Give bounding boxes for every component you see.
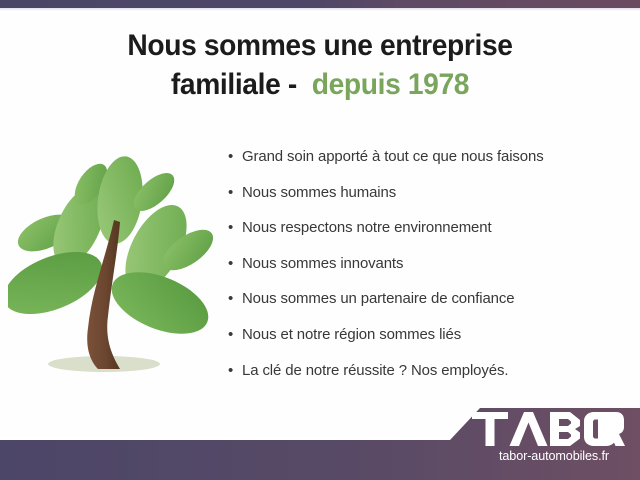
page-title-line-2-main: familiale - — [171, 68, 297, 101]
top-accent-bar — [0, 0, 640, 8]
top-accent-bar-shadow — [0, 8, 640, 11]
tree-illustration — [8, 148, 223, 390]
list-item-label: Nous et notre région sommes liés — [242, 327, 461, 342]
page-title-line-1: Nous sommes une entreprise — [19, 26, 621, 65]
list-item: • Nous et notre région sommes liés — [228, 327, 634, 363]
list-item-label: Nous sommes humains — [242, 185, 396, 200]
list-item: • Nous respectons notre environnement — [228, 220, 634, 256]
list-item: • Grand soin apporté à tout ce que nous … — [228, 149, 634, 185]
footer-band — [0, 405, 640, 480]
bullet-marker-icon: • — [228, 220, 242, 235]
page-title-accent: depuis 1978 — [312, 68, 469, 101]
bullet-marker-icon: • — [228, 149, 242, 164]
page-title: Nous sommes une entreprise familiale - d… — [19, 26, 621, 104]
bullet-marker-icon: • — [228, 327, 242, 342]
list-item-label: Grand soin apporté à tout ce que nous fa… — [242, 149, 544, 164]
page-title-line-2: familiale - depuis 1978 — [19, 65, 621, 104]
bullet-marker-icon: • — [228, 291, 242, 306]
slide-canvas: Nous sommes une entreprise familiale - d… — [0, 0, 640, 480]
list-item-label: Nous sommes un partenaire de confiance — [242, 291, 514, 306]
list-item: • Nous sommes un partenaire de confiance — [228, 291, 634, 327]
bullet-marker-icon: • — [228, 363, 242, 378]
benefits-list: • Grand soin apporté à tout ce que nous … — [228, 149, 634, 398]
list-item-label: La clé de notre réussite ? Nos employés. — [242, 363, 508, 378]
bullet-marker-icon: • — [228, 185, 242, 200]
list-item-label: Nous respectons notre environnement — [242, 220, 491, 235]
bullet-marker-icon: • — [228, 256, 242, 271]
list-item: • Nous sommes innovants — [228, 256, 634, 292]
list-item: • La clé de notre réussite ? Nos employé… — [228, 363, 634, 399]
list-item: • Nous sommes humains — [228, 185, 634, 221]
list-item-label: Nous sommes innovants — [242, 256, 403, 271]
